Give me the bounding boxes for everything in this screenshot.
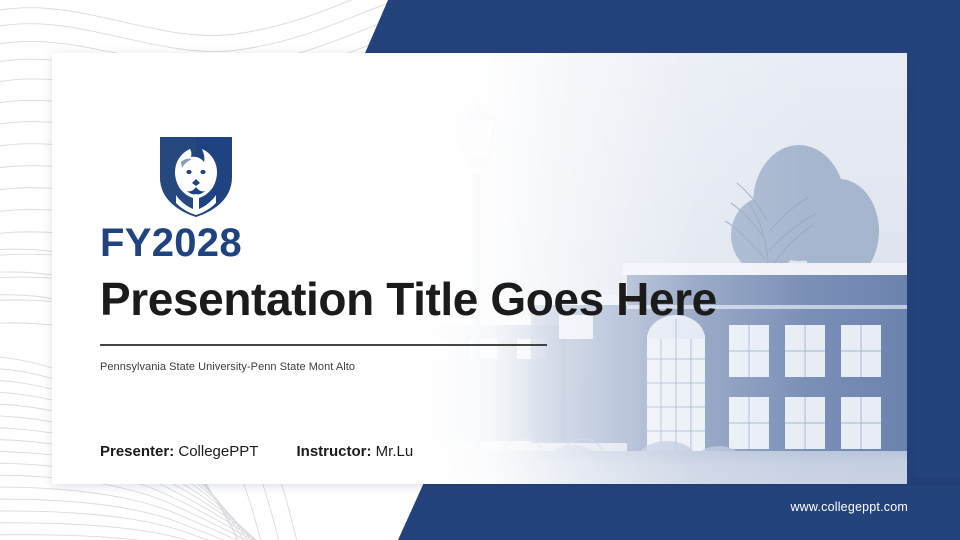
credits-line: Presenter: CollegePPT Instructor: Mr.Lu (100, 443, 413, 460)
instructor-name: Mr.Lu (376, 443, 414, 460)
footer-website-url: www.collegeppt.com (790, 500, 908, 514)
page-title: Presentation Title Goes Here (100, 274, 717, 326)
presentation-slide: FY2028 Presentation Title Goes Here Penn… (0, 0, 960, 540)
navy-top-band (362, 0, 960, 60)
fiscal-year-label: FY2028 (100, 222, 717, 264)
content-card: FY2028 Presentation Title Goes Here Penn… (52, 53, 907, 484)
presenter-name: CollegePPT (178, 443, 258, 460)
organization-name: Pennsylvania State University-Penn State… (100, 361, 717, 373)
presenter-label: Presenter: (100, 443, 174, 460)
instructor-label: Instructor: (297, 443, 372, 460)
title-divider (100, 344, 547, 346)
title-block: FY2028 Presentation Title Goes Here Penn… (100, 222, 717, 373)
penn-state-nittany-lion-shield-icon (152, 131, 240, 221)
